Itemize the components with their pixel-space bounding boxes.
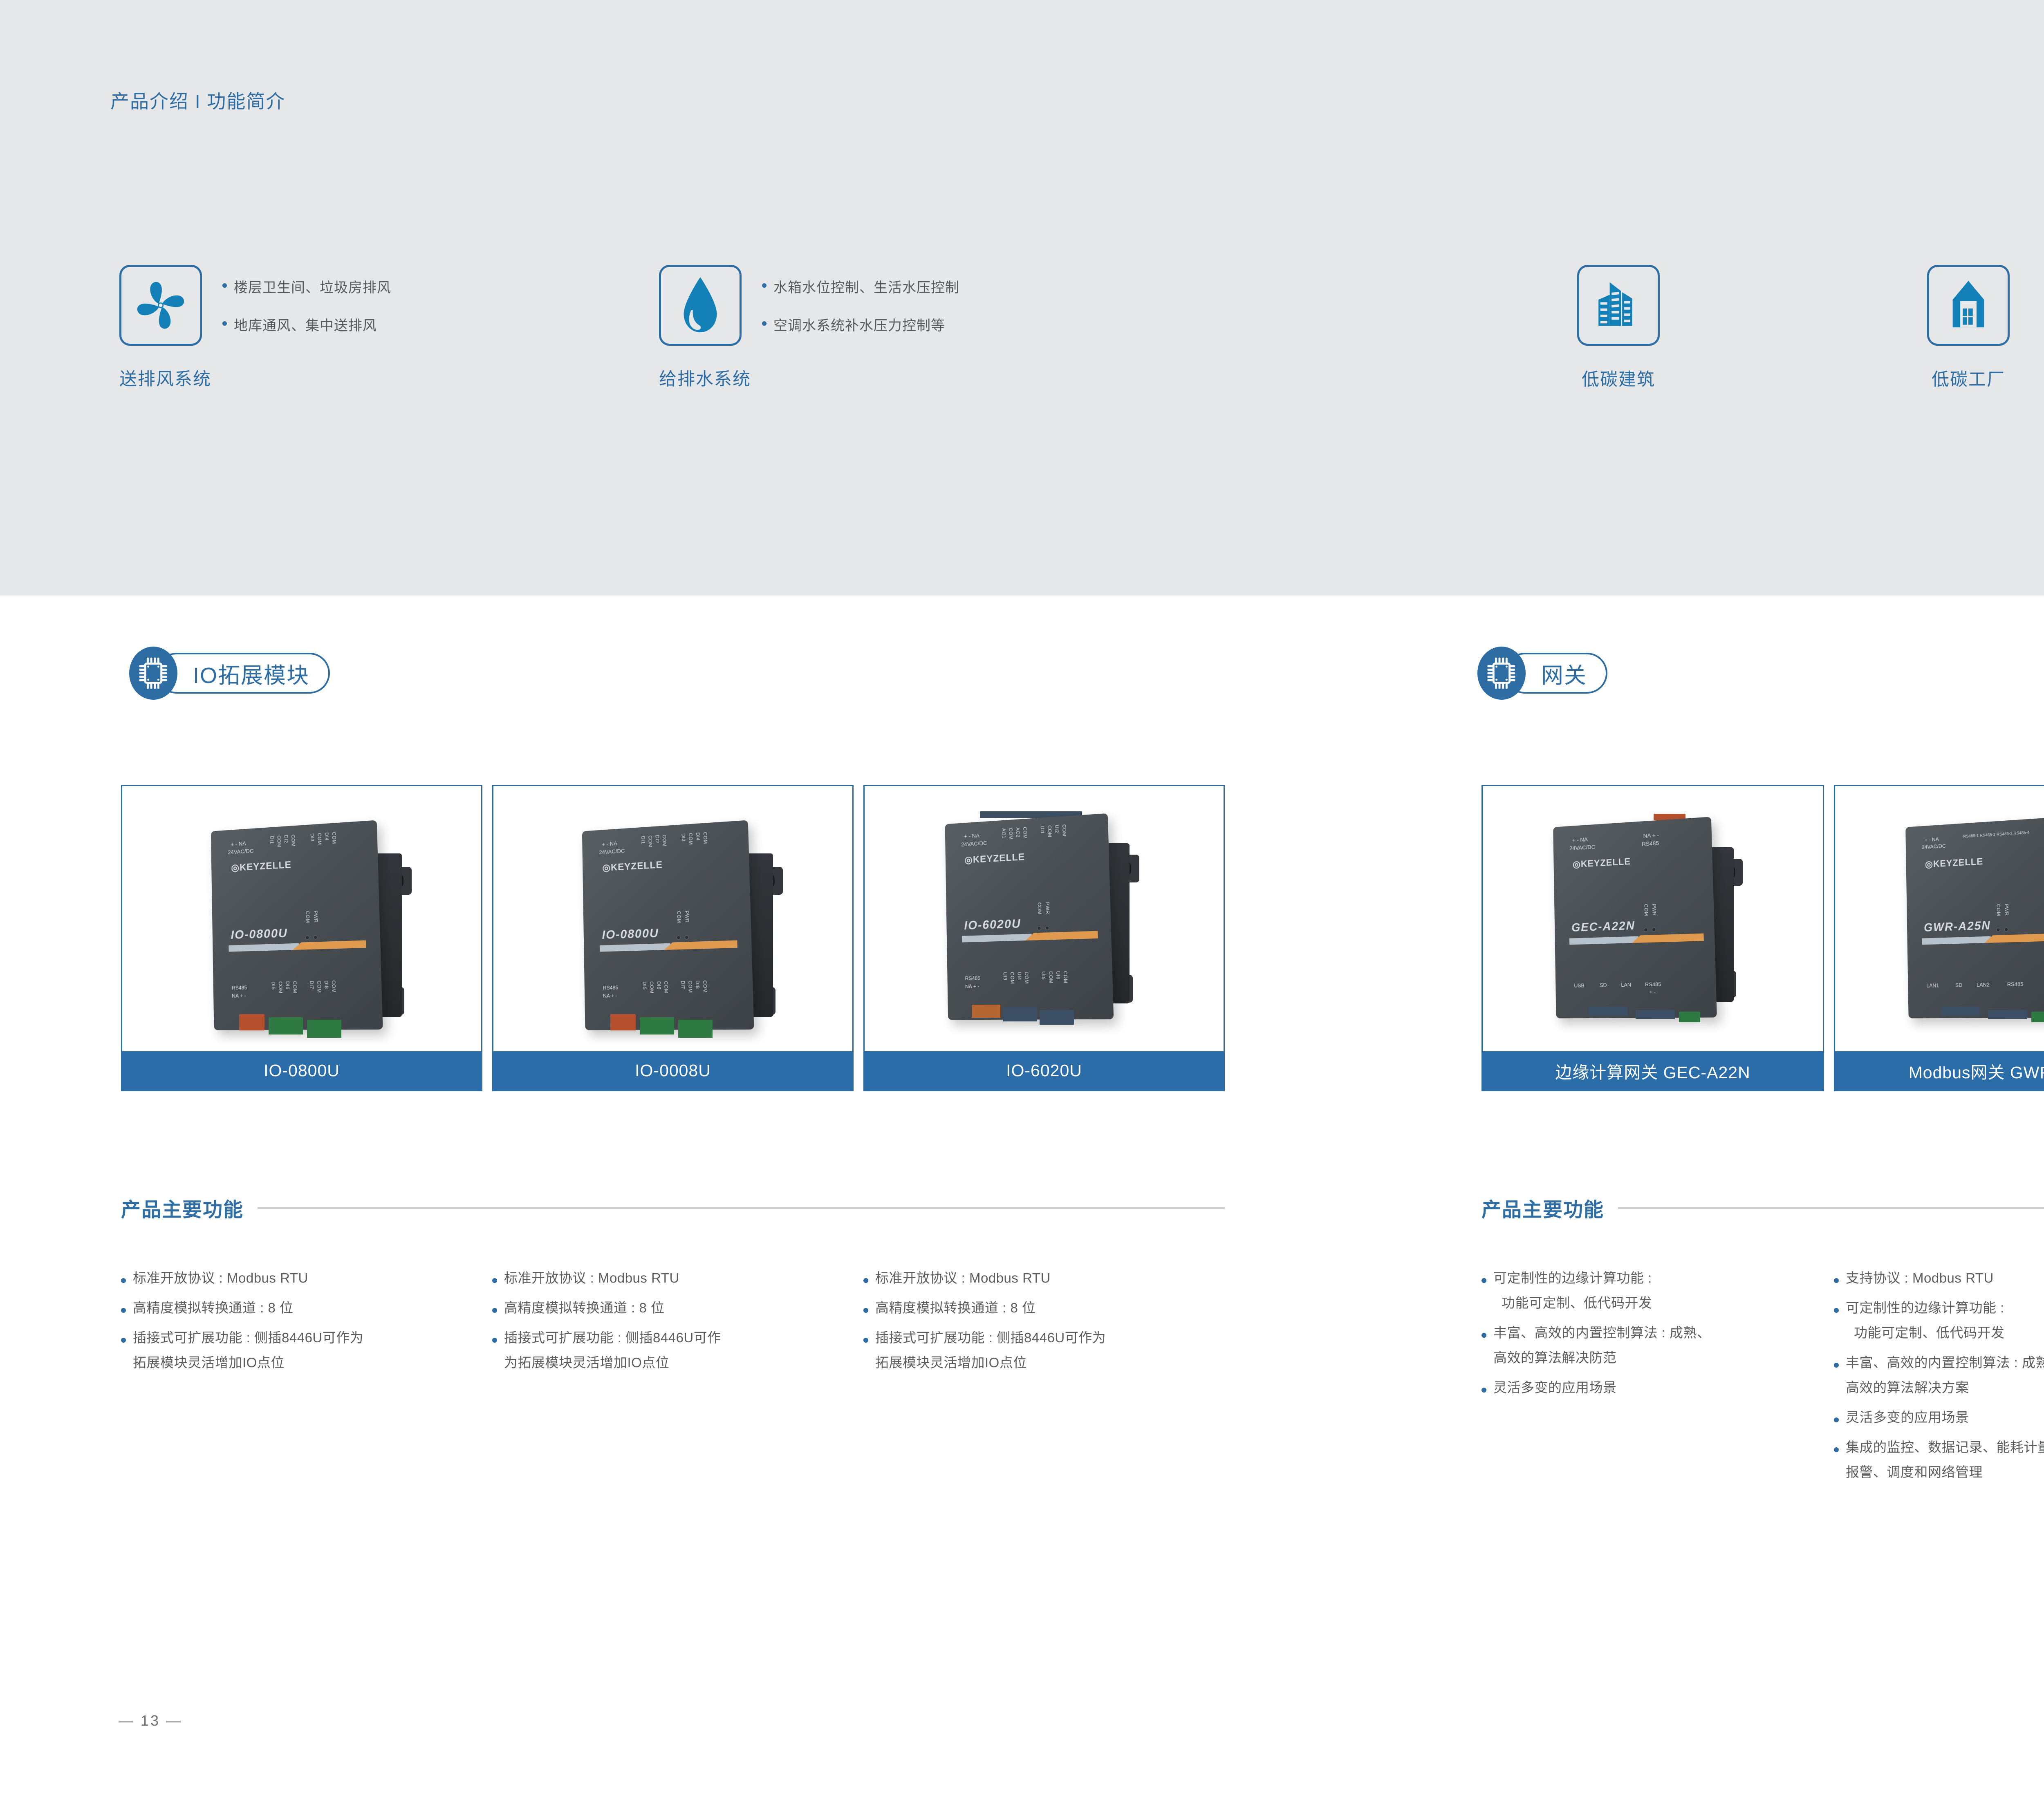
feature-item: 丰富、高效的内置控制算法 : 成熟、 高效的算法解决防范 [1481,1326,1833,1364]
feature-line: 报警、调度和网络管理 [1846,1465,2044,1479]
product-label: Modbus网关 GWR-A25N [1909,1059,2044,1083]
feature-line: 灵活多变的应用场景 [1846,1411,1969,1424]
feature-item: 灵活多变的应用场景 [1834,1411,2044,1424]
feature-item: 支持协议 : Modbus RTU [1834,1271,2044,1285]
bullet-item: 空调水系统补水压力控制等 [762,314,959,334]
feature-item: 标准开放协议 : Modbus RTU [492,1271,860,1285]
feature-line: 高精度模拟转换通道 : 8 位 [504,1301,665,1314]
product-label: IO-6020U [1006,1061,1082,1080]
bullet-item: 水箱水位控制、生活水压控制 [762,276,959,296]
product-label: IO-0008U [635,1061,711,1080]
bullet-dot [121,1338,126,1343]
feature-item: 可定制性的边缘计算功能 : 功能可定制、低代码开发 [1481,1271,1833,1310]
product-image: + - NA 24VAC/DC DI1 COM DI2 COM DI3 COM … [493,786,852,1051]
bullet-dot [222,283,227,288]
feature-line: 可定制性的边缘计算功能 : [1493,1271,1652,1285]
feature-line: 插接式可扩展功能 : 侧插8446U可作为 [133,1331,363,1344]
feature-item: 标准开放协议 : Modbus RTU [863,1271,1231,1285]
product-label-bar: 边缘计算网关 GEC-A22N [1483,1051,1823,1090]
product-image: + - NA 24VAC/DC AO1 COM AO2 COM UI1 COM … [865,786,1224,1051]
bullet-dot [1481,1388,1486,1393]
feature-item: 高精度模拟转换通道 : 8 位 [492,1301,860,1314]
product-image: + - NA 24VAC/DC NA + - RS485 ◎KEYZELLE G… [1483,786,1823,1051]
lowcarbon-building: 低碳建筑 [1577,265,1660,391]
bullet-dot [222,321,227,326]
feature-line: 插接式可扩展功能 : 侧插8446U可作 [504,1331,721,1344]
header-left: 产品介绍 I 功能简介 [110,87,285,114]
feature-line: 丰富、高效的内置控制算法 : 成熟、 [1493,1326,1711,1339]
product-label-bar: IO-0008U [493,1051,852,1090]
feature-column: 可定制性的边缘计算功能 : 功能可定制、低代码开发 丰富、高效的内置控制算法 :… [1481,1271,1833,1411]
feature-heading-left: 产品主要功能 [121,1193,1225,1222]
feature-line: 标准开放协议 : Modbus RTU [875,1271,1051,1285]
feature-item: 集成的监控、数据记录、能耗计量、 报警、调度和网络管理 [1834,1440,2044,1479]
bullet-text: 水箱水位控制、生活水压控制 [773,276,959,296]
bullet-text: 空调水系统补水压力控制等 [773,314,945,334]
office-building-icon-frame [1577,265,1660,346]
feature-line: 标准开放协议 : Modbus RTU [133,1271,308,1285]
bullet-dot [492,1308,497,1313]
feature-item: 标准开放协议 : Modbus RTU [121,1271,489,1285]
product-card[interactable]: + - NA 24VAC/DC AO1 COM AO2 COM UI1 COM … [863,785,1225,1091]
feature-column: 支持协议 : Modbus RTU 可定制性的边缘计算功能 : 功能可定制、低代… [1834,1271,2044,1495]
ventilation-bullets: 楼层卫生间、垃圾房排风 地库通风、集中送排风 [222,276,391,352]
feature-line: 高精度模拟转换通道 : 8 位 [133,1301,294,1314]
page-number-left: — 13 — [119,1712,182,1729]
section-pill-label: IO拓展模块 [193,657,309,690]
lowcarbon-caption: 低碳建筑 [1577,365,1660,391]
bullet-dot [1834,1363,1839,1368]
product-label-bar: IO-6020U [865,1051,1224,1090]
feature-line: 集成的监控、数据记录、能耗计量、 [1846,1440,2044,1454]
bullet-dot [1481,1333,1486,1338]
bullet-dot [762,321,766,326]
feature-line: 支持协议 : Modbus RTU [1846,1271,1994,1285]
lowcarbon-caption: 低碳工厂 [1927,365,2010,391]
bullet-dot [762,283,766,288]
bullet-dot [863,1338,868,1343]
heading-rule [1618,1207,2044,1209]
water-bullets: 水箱水位控制、生活水压控制 空调水系统补水压力控制等 [762,276,959,352]
bullet-dot [1834,1308,1839,1313]
factory-icon-frame [1927,265,2010,346]
feature-line: 标准开放协议 : Modbus RTU [504,1271,679,1285]
office-building-icon [1594,278,1643,332]
feature-line: 高效的算法解决防范 [1493,1351,1711,1364]
feature-line: 功能可定制、低代码开发 [1846,1326,2005,1339]
feature-heading-right: 产品主要功能 [1481,1193,2044,1222]
feature-item: 插接式可扩展功能 : 侧插8446U可作为 拓展模块灵活增加IO点位 [863,1331,1231,1369]
feature-line: 高效的算法解决方案 [1846,1381,2044,1394]
bullet-text: 楼层卫生间、垃圾房排风 [234,276,391,296]
water-drop-icon-frame [659,265,742,346]
feature-item: 高精度模拟转换通道 : 8 位 [121,1301,489,1314]
bullet-dot [492,1278,497,1283]
feature-item: 丰富、高效的内置控制算法 : 成熟、 高效的算法解决方案 [1834,1356,2044,1394]
feature-line: 可定制性的边缘计算功能 : [1846,1301,2005,1314]
product-card[interactable]: + - NA 24VAC/DC DI1 COM DI2 COM DI3 COM … [121,785,482,1091]
product-label: IO-0800U [264,1061,340,1080]
product-card[interactable]: + - NA 24VAC/DC RS485-1 RS485-2 RS485-3 … [1834,785,2044,1091]
feature-column: 标准开放协议 : Modbus RTU 高精度模拟转换通道 : 8 位 插接式可… [492,1271,860,1386]
bullet-dot [492,1338,497,1343]
feature-line: 高精度模拟转换通道 : 8 位 [875,1301,1036,1314]
feature-column: 标准开放协议 : Modbus RTU 高精度模拟转换通道 : 8 位 插接式可… [863,1271,1231,1386]
feature-line: 拓展模块灵活增加IO点位 [875,1356,1106,1369]
bullet-dot [1481,1278,1486,1283]
bullet-dot [121,1308,126,1313]
bullet-dot [121,1278,126,1283]
product-label-bar: IO-0800U [122,1051,481,1090]
section-header-gateway: 网关 [1477,647,1607,700]
chip-icon [1486,656,1517,690]
feature-heading-text: 产品主要功能 [121,1193,244,1222]
scenario-caption: 送排风系统 [119,365,211,390]
factory-icon [1945,278,1991,332]
scenario-caption: 给排水系统 [659,365,751,390]
bullet-dot [1834,1278,1839,1283]
section-pill-label: 网关 [1541,657,1587,690]
fan-icon [133,278,188,333]
feature-line: 丰富、高效的内置控制算法 : 成熟、 [1846,1356,2044,1369]
feature-heading-text: 产品主要功能 [1481,1193,1604,1222]
bullet-item: 楼层卫生间、垃圾房排风 [222,276,391,296]
lowcarbon-factory: 低碳工厂 [1927,265,2010,391]
bullet-dot [863,1278,868,1283]
product-card[interactable]: + - NA 24VAC/DC NA + - RS485 ◎KEYZELLE G… [1481,785,1824,1091]
water-drop-icon [678,275,723,336]
bullet-dot [1834,1447,1839,1452]
chip-icon-badge [1477,647,1526,700]
feature-line: 为拓展模块灵活增加IO点位 [504,1356,721,1369]
chip-icon [138,656,168,690]
feature-line: 拓展模块灵活增加IO点位 [133,1356,363,1369]
section-header-io: IO拓展模块 [129,647,330,700]
feature-line: 灵活多变的应用场景 [1493,1381,1617,1394]
feature-item: 可定制性的边缘计算功能 : 功能可定制、低代码开发 [1834,1301,2044,1339]
feature-item: 插接式可扩展功能 : 侧插8446U可作为 拓展模块灵活增加IO点位 [121,1331,489,1369]
product-image: + - NA 24VAC/DC RS485-1 RS485-2 RS485-3 … [1835,786,2044,1051]
feature-line: 功能可定制、低代码开发 [1493,1296,1652,1310]
product-card[interactable]: + - NA 24VAC/DC DI1 COM DI2 COM DI3 COM … [492,785,854,1091]
product-label-bar: Modbus网关 GWR-A25N [1835,1051,2044,1090]
brochure-page: 产品介绍 I 功能简介 产品介绍 I 功能简介 楼层卫生间、垃圾房排风 [0,0,2044,1798]
product-label: 边缘计算网关 GEC-A22N [1555,1059,1750,1083]
feature-column: 标准开放协议 : Modbus RTU 高精度模拟转换通道 : 8 位 插接式可… [121,1271,489,1386]
bullet-text: 地库通风、集中送排风 [234,314,377,334]
bullet-dot [1834,1417,1839,1422]
chip-icon-badge [129,647,177,700]
feature-line: 插接式可扩展功能 : 侧插8446U可作为 [875,1331,1106,1344]
feature-item: 高精度模拟转换通道 : 8 位 [863,1301,1231,1314]
fan-icon-frame [119,265,202,346]
feature-item: 灵活多变的应用场景 [1481,1381,1833,1394]
bullet-item: 地库通风、集中送排风 [222,314,391,334]
bullet-dot [863,1308,868,1313]
heading-rule [258,1207,1225,1209]
product-image: + - NA 24VAC/DC DI1 COM DI2 COM DI3 COM … [122,786,481,1051]
feature-item: 插接式可扩展功能 : 侧插8446U可作 为拓展模块灵活增加IO点位 [492,1331,860,1369]
section-pill-io: IO拓展模块 [156,653,330,694]
